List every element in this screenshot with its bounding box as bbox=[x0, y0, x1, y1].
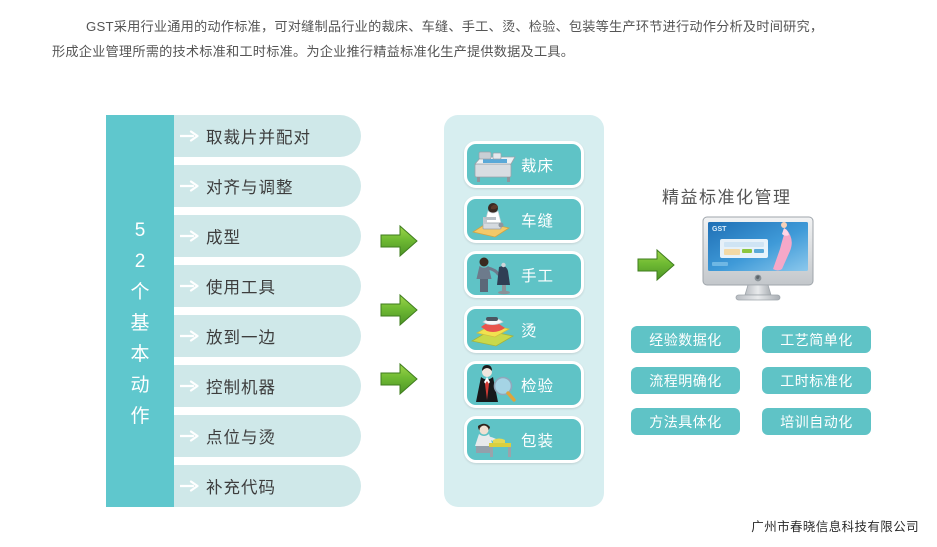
arrow-right-icon bbox=[180, 230, 200, 242]
tag-row: 经验数据化 工艺简单化 bbox=[631, 326, 891, 353]
list-item[interactable]: 补充代码 bbox=[174, 465, 361, 507]
list-item[interactable]: 取裁片并配对 bbox=[174, 115, 361, 157]
list-item-label: 包装 bbox=[521, 429, 554, 451]
intro-paragraph: GST采用行业通用的动作标准，可对缝制品行业的裁床、车缝、手工、烫、检验、包装等… bbox=[52, 14, 892, 64]
list-item[interactable]: 裁床 bbox=[464, 141, 584, 188]
list-item-label: 取裁片并配对 bbox=[206, 124, 311, 148]
inspection-magnifier-icon bbox=[469, 364, 519, 405]
process-card-list: 裁床 车缝 bbox=[464, 141, 584, 463]
green-arrow-icon bbox=[379, 224, 419, 258]
intro-line-1: GST采用行业通用的动作标准，可对缝制品行业的裁床、车缝、手工、烫、检验、包装等… bbox=[52, 14, 892, 39]
list-item[interactable]: 车缝 bbox=[464, 196, 584, 243]
basic-motions-vertical-label: 5 2 个 基 本 动 作 bbox=[106, 215, 174, 432]
arrow-right-icon bbox=[180, 480, 200, 492]
list-item[interactable]: 手工 bbox=[464, 251, 584, 298]
band-char-6: 作 bbox=[106, 401, 174, 432]
packing-icon bbox=[469, 419, 519, 460]
page-title-lean-management: 精益标准化管理 bbox=[662, 183, 792, 208]
status-badge[interactable]: 培训自动化 bbox=[762, 408, 871, 435]
list-item-label: 对齐与调整 bbox=[206, 174, 294, 198]
status-badge[interactable]: 工时标准化 bbox=[762, 367, 871, 394]
list-item[interactable]: 控制机器 bbox=[174, 365, 361, 407]
list-item-label: 放到一边 bbox=[206, 324, 276, 348]
ironing-icon bbox=[469, 309, 519, 350]
svg-text:GST: GST bbox=[712, 226, 727, 233]
list-item[interactable]: 点位与烫 bbox=[174, 415, 361, 457]
list-item[interactable]: 对齐与调整 bbox=[174, 165, 361, 207]
arrow-right-icon bbox=[180, 180, 200, 192]
arrow-right-icon bbox=[180, 380, 200, 392]
status-badge[interactable]: 工艺简单化 bbox=[762, 326, 871, 353]
tag-row: 方法具体化 培训自动化 bbox=[631, 408, 891, 435]
list-item-label: 成型 bbox=[206, 224, 241, 248]
list-item-label: 使用工具 bbox=[206, 274, 276, 298]
list-item-label: 控制机器 bbox=[206, 374, 276, 398]
list-item-label: 补充代码 bbox=[206, 474, 276, 498]
arrow-right-icon bbox=[180, 130, 200, 142]
list-item[interactable]: 包装 bbox=[464, 416, 584, 463]
green-arrow-icon bbox=[379, 293, 419, 327]
green-arrow-icon bbox=[379, 362, 419, 396]
status-badge[interactable]: 经验数据化 bbox=[631, 326, 740, 353]
band-char-2: 个 bbox=[106, 277, 174, 308]
arrow-right-icon bbox=[180, 330, 200, 342]
list-item[interactable]: 检验 bbox=[464, 361, 584, 408]
band-char-5: 动 bbox=[106, 370, 174, 401]
list-item-label: 烫 bbox=[521, 319, 538, 341]
list-item[interactable]: 使用工具 bbox=[174, 265, 361, 307]
green-arrow-icon bbox=[636, 248, 676, 282]
intro-line-2: 形成企业管理所需的技术标准和工时标准。为企业推行精益标准化生产提供数据及工具。 bbox=[52, 39, 892, 64]
band-char-1: 2 bbox=[106, 246, 174, 277]
status-badge[interactable]: 方法具体化 bbox=[631, 408, 740, 435]
band-char-3: 基 bbox=[106, 308, 174, 339]
step-list: 取裁片并配对 对齐与调整 成型 使用工具 放到一边 bbox=[174, 115, 361, 507]
list-item-label: 手工 bbox=[521, 264, 554, 286]
benefit-tag-grid: 经验数据化 工艺简单化 流程明确化 工时标准化 方法具体化 培训自动化 bbox=[631, 326, 891, 435]
list-item[interactable]: 成型 bbox=[174, 215, 361, 257]
middle-panel-processes: 裁床 车缝 bbox=[444, 115, 604, 507]
list-item[interactable]: 烫 bbox=[464, 306, 584, 353]
left-column-basic-motions: 5 2 个 基 本 动 作 取裁片并配对 对齐与调整 成型 bbox=[106, 115, 361, 507]
arrow-right-icon bbox=[180, 280, 200, 292]
imac-monitor-icon: GST bbox=[700, 215, 816, 307]
list-item-label: 裁床 bbox=[521, 154, 554, 176]
list-item[interactable]: 放到一边 bbox=[174, 315, 361, 357]
tag-row: 流程明确化 工时标准化 bbox=[631, 367, 891, 394]
band-char-4: 本 bbox=[106, 339, 174, 370]
footer-company-name: 广州市春晓信息科技有限公司 bbox=[751, 516, 919, 535]
sewing-machine-icon bbox=[469, 199, 519, 240]
arrow-right-icon bbox=[180, 430, 200, 442]
list-item-label: 检验 bbox=[521, 374, 554, 396]
status-badge[interactable]: 流程明确化 bbox=[631, 367, 740, 394]
band-char-0: 5 bbox=[106, 215, 174, 246]
list-item-label: 点位与烫 bbox=[206, 424, 276, 448]
cutting-table-icon bbox=[469, 144, 519, 185]
list-item-label: 车缝 bbox=[521, 209, 554, 231]
handwork-mannequin-icon bbox=[469, 254, 519, 295]
